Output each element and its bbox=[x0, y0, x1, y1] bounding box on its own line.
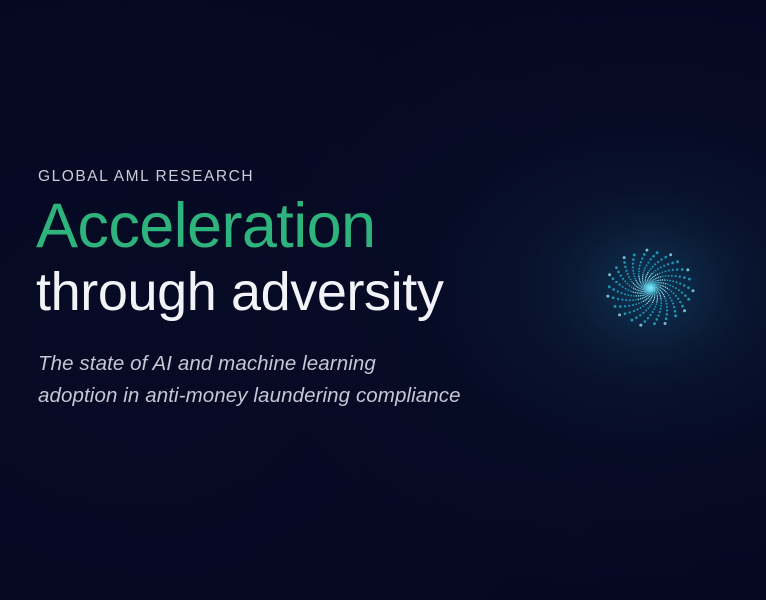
subtitle-line-1: The state of AI and machine learning bbox=[38, 348, 556, 380]
cover-text-block: GLOBAL AML RESEARCH Acceleration through… bbox=[36, 168, 556, 413]
cover-page: GLOBAL AML RESEARCH Acceleration through… bbox=[0, 0, 766, 600]
eyebrow-label: GLOBAL AML RESEARCH bbox=[38, 168, 556, 185]
vortex-core-glow bbox=[638, 277, 664, 299]
spiral-dot-layer bbox=[606, 249, 694, 327]
vortex-haze bbox=[520, 173, 766, 403]
page-subtitle: The state of AI and machine learning ado… bbox=[38, 348, 556, 413]
subtitle-line-2: adoption in anti-money laundering compli… bbox=[38, 380, 556, 412]
page-title-accent: Acceleration bbox=[36, 194, 556, 260]
page-title-main: through adversity bbox=[36, 262, 556, 322]
